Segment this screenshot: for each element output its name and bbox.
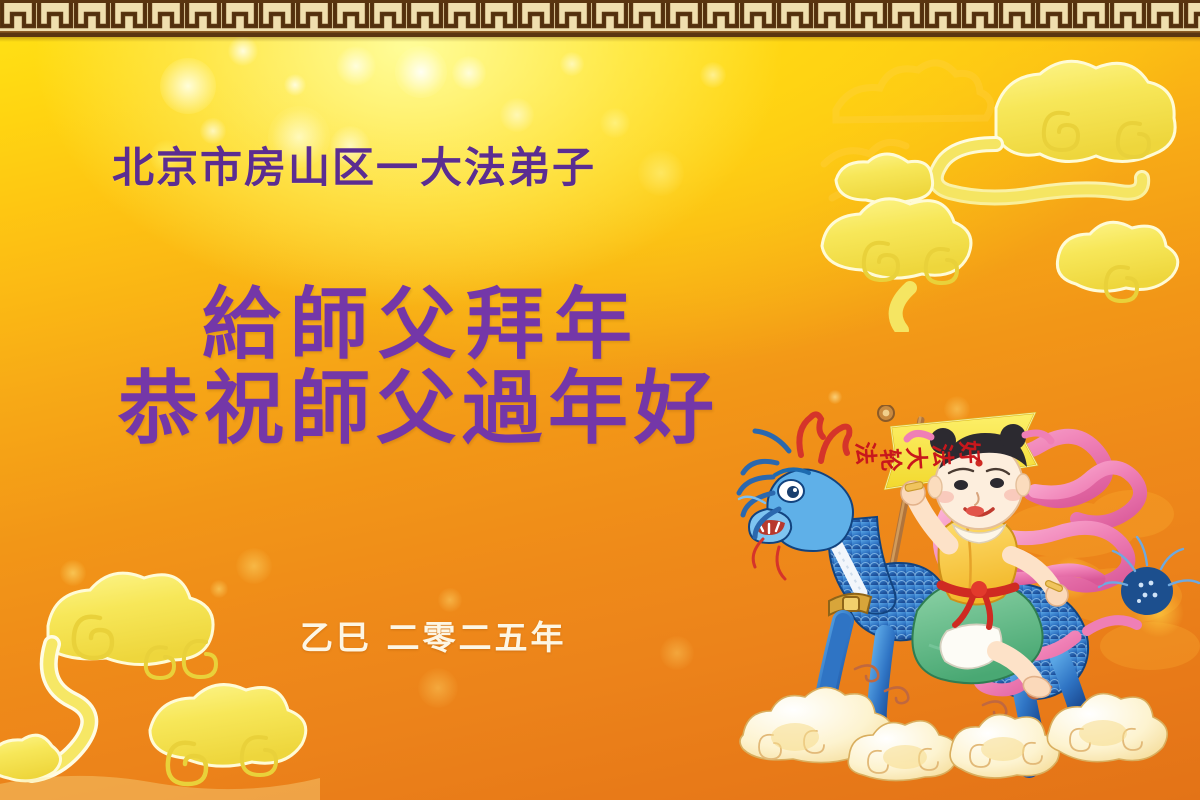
bokeh-dot [60,560,86,586]
banner-flag [885,413,1037,489]
bokeh-dot [638,150,684,196]
new-year-illustration [735,405,1200,800]
bokeh-dot [700,62,726,88]
bokeh-dot [236,548,272,584]
bokeh-dot [944,396,970,422]
bokeh-dot [418,668,458,708]
bokeh-dot [1050,556,1094,600]
cloud-ghost-right [1000,470,1200,700]
greeting-card: 法 轮 大 法 好 北京市房山区一大法弟子 給師父拜年 恭祝師父過年好 乙巳 二… [0,0,1200,800]
base-clouds [740,687,1167,780]
cloud-ghost-topright [818,40,1048,250]
cloud-bottom-left [0,560,320,800]
bokeh-dot [336,46,376,86]
bokeh-dot [284,74,306,96]
cloud-top-right [800,32,1200,332]
bokeh-dot [828,390,842,404]
flag-pole [878,405,925,626]
bokeh-dot [500,98,534,132]
child-rider [901,424,1068,701]
bokeh-dot [560,52,584,76]
bokeh-dot [210,580,228,598]
bokeh-dot [160,58,216,114]
top-meander-border [0,0,1200,37]
banner-char-3: 法 [927,442,963,467]
date-line: 乙巳 二零二五年 [300,611,567,659]
bokeh-dot [438,588,462,612]
qilin-dragon [739,414,1199,768]
bokeh-dot [395,46,447,98]
banner-char-2: 大 [901,445,937,470]
ribbon-back [923,436,1140,585]
bokeh-dot [660,636,694,670]
banner-char-0: 法 [850,440,886,465]
greeting-line-2: 恭祝師父過年好 [118,344,720,460]
bokeh-dot [452,56,486,90]
organization-line: 北京市房山区一大法弟子 [112,134,596,195]
banner-char-4: 好 [954,439,990,464]
bokeh-dot [1134,588,1184,638]
bokeh-dot [600,108,630,138]
banner-char-1: 轮 [875,447,911,472]
ribbon-front [940,509,1099,690]
tail-plume [1087,537,1199,631]
